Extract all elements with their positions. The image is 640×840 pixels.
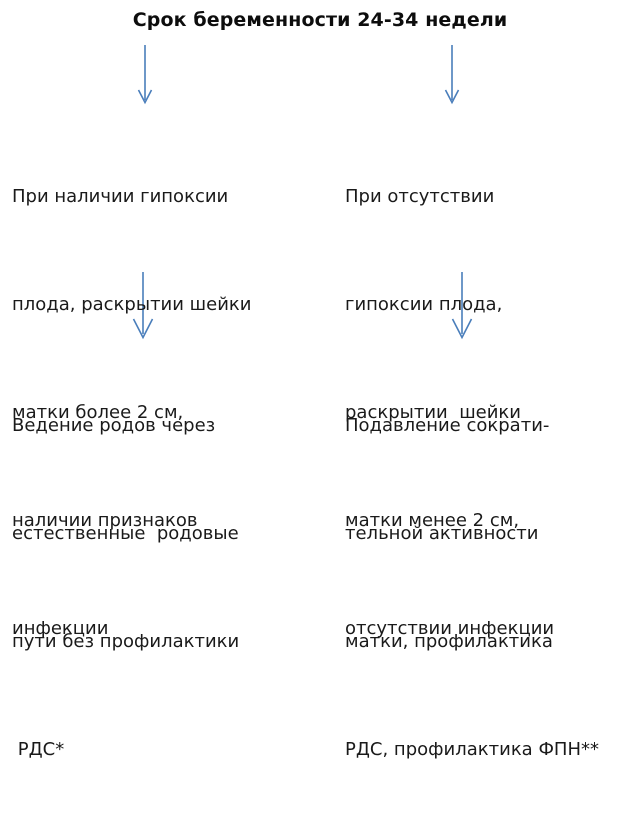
text-line: тельной активности bbox=[345, 516, 599, 552]
text-line: Ведение родов через bbox=[12, 408, 239, 444]
page-title: Срок беременности 24-34 недели bbox=[0, 9, 640, 31]
text-line: Подавление сократи- bbox=[345, 408, 599, 444]
text-line: пути без профилактики bbox=[12, 624, 239, 660]
text-line: РДС, профилактика ФПН** bbox=[345, 732, 599, 768]
text-line: РДС* bbox=[12, 732, 239, 768]
arrow-title-to-right-condition bbox=[446, 45, 459, 103]
right-outcome-block: Подавление сократи- тельной активности м… bbox=[345, 336, 599, 840]
text-line: плода, раскрытии шейки bbox=[12, 287, 251, 323]
arrow-title-to-left-condition bbox=[139, 45, 152, 103]
text-line: При отсутствии bbox=[345, 179, 554, 215]
text-line: матки, профилактика bbox=[345, 624, 599, 660]
text-line: При наличии гипоксии bbox=[12, 179, 251, 215]
text-line: естественные родовые bbox=[12, 516, 239, 552]
left-outcome-block: Ведение родов через естественные родовые… bbox=[12, 336, 239, 840]
flowchart-diagram: Срок беременности 24-34 недели При налич… bbox=[0, 0, 640, 476]
text-line: гипоксии плода, bbox=[345, 287, 554, 323]
